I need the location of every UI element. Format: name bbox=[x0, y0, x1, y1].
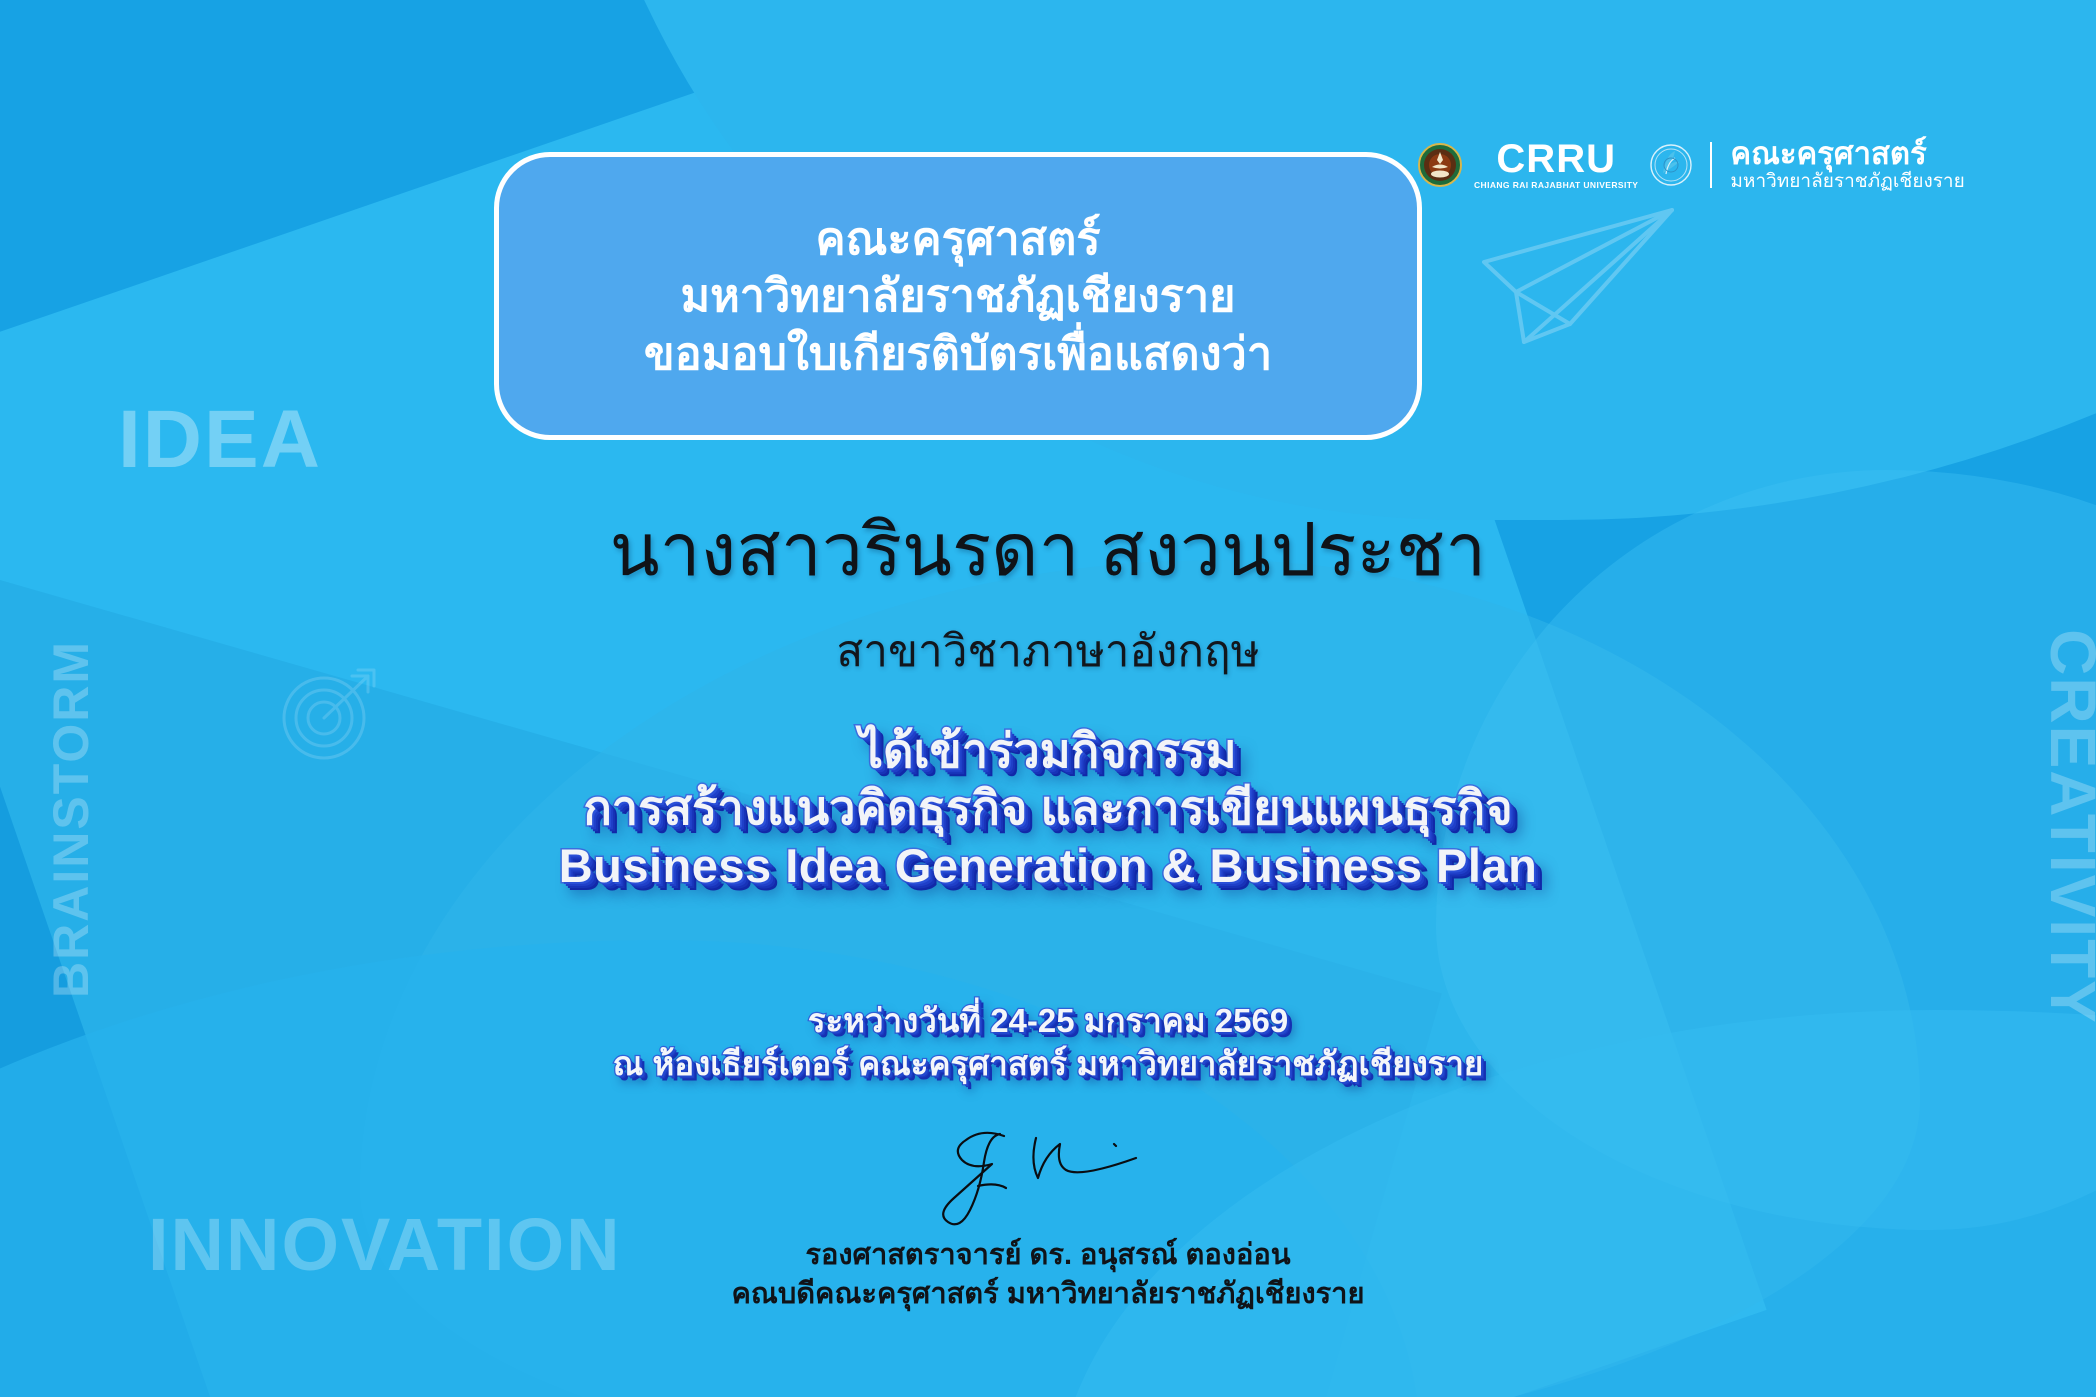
crru-wordmark: CRRU CHIANG RAI RAJABHAT UNIVERSITY bbox=[1474, 140, 1638, 190]
logo-divider bbox=[1710, 142, 1712, 188]
signatory-name: รองศาสตราจารย์ ดร. อนุสรณ์ ตองอ่อน bbox=[0, 1236, 2096, 1275]
activity-block: ได้เข้าร่วมกิจกรรม การสร้างแนวคิดธุรกิจ … bbox=[0, 722, 2096, 894]
activity-title-thai: การสร้างแนวคิดธุรกิจ และการเขียนแผนธุรกิ… bbox=[0, 779, 2096, 836]
header-line-award-statement: ขอมอบใบเกียรติบัตรเพื่อแสดงว่า bbox=[644, 327, 1272, 380]
university-logo-lockup: CRRU CHIANG RAI RAJABHAT UNIVERSITY คณะค… bbox=[1418, 138, 1965, 192]
event-date: ระหว่างวันที่ 24-25 มกราคม 2569 bbox=[0, 1000, 2096, 1043]
handwritten-signature-icon bbox=[908, 1118, 1188, 1230]
crru-wordmark-text: CRRU bbox=[1496, 140, 1616, 178]
header-line-university: มหาวิทยาลัยราชภัฏเชียงราย bbox=[680, 269, 1235, 322]
faculty-university-thai: มหาวิทยาลัยราชภัฏเชียงราย bbox=[1730, 171, 1964, 193]
signature-block: รองศาสตราจารย์ ดร. อนุสรณ์ ตองอ่อน คณบดี… bbox=[0, 1118, 2096, 1314]
paper-plane-icon bbox=[1478, 200, 1686, 357]
event-venue: ณ ห้องเธียร์เตอร์ คณะครุศาสตร์ มหาวิทยาล… bbox=[0, 1043, 2096, 1086]
signatory-title: คณบดีคณะครุศาสตร์ มหาวิทยาลัยราชภัฏเชียง… bbox=[0, 1275, 2096, 1314]
watermark-idea: IDEA bbox=[118, 393, 322, 487]
crru-wordmark-subtext: CHIANG RAI RAJABHAT UNIVERSITY bbox=[1474, 180, 1638, 190]
certificate-canvas: IDEA BRAINSTORM CREATIVITY INNOVATION bbox=[0, 0, 2096, 1397]
recipient-major: สาขาวิชาภาษาอังกฤษ bbox=[0, 616, 2096, 686]
activity-title-english: Business Idea Generation & Business Plan bbox=[0, 837, 2096, 894]
event-details-block: ระหว่างวันที่ 24-25 มกราคม 2569 ณ ห้องเธ… bbox=[0, 1000, 2096, 1086]
certificate-header-box: คณะครุศาสตร์ มหาวิทยาลัยราชภัฏเชียงราย ข… bbox=[494, 152, 1422, 440]
faculty-emblem-icon bbox=[1650, 144, 1692, 186]
faculty-text-block: คณะครุศาสตร์ มหาวิทยาลัยราชภัฏเชียงราย bbox=[1730, 138, 1964, 192]
crru-seal-icon bbox=[1418, 143, 1462, 187]
activity-participation-line: ได้เข้าร่วมกิจกรรม bbox=[0, 722, 2096, 779]
recipient-name: นางสาวรินรดา สงวนประชา bbox=[0, 492, 2096, 608]
header-line-faculty: คณะครุศาสตร์ bbox=[816, 212, 1101, 265]
faculty-name-thai: คณะครุศาสตร์ bbox=[1730, 138, 1964, 171]
